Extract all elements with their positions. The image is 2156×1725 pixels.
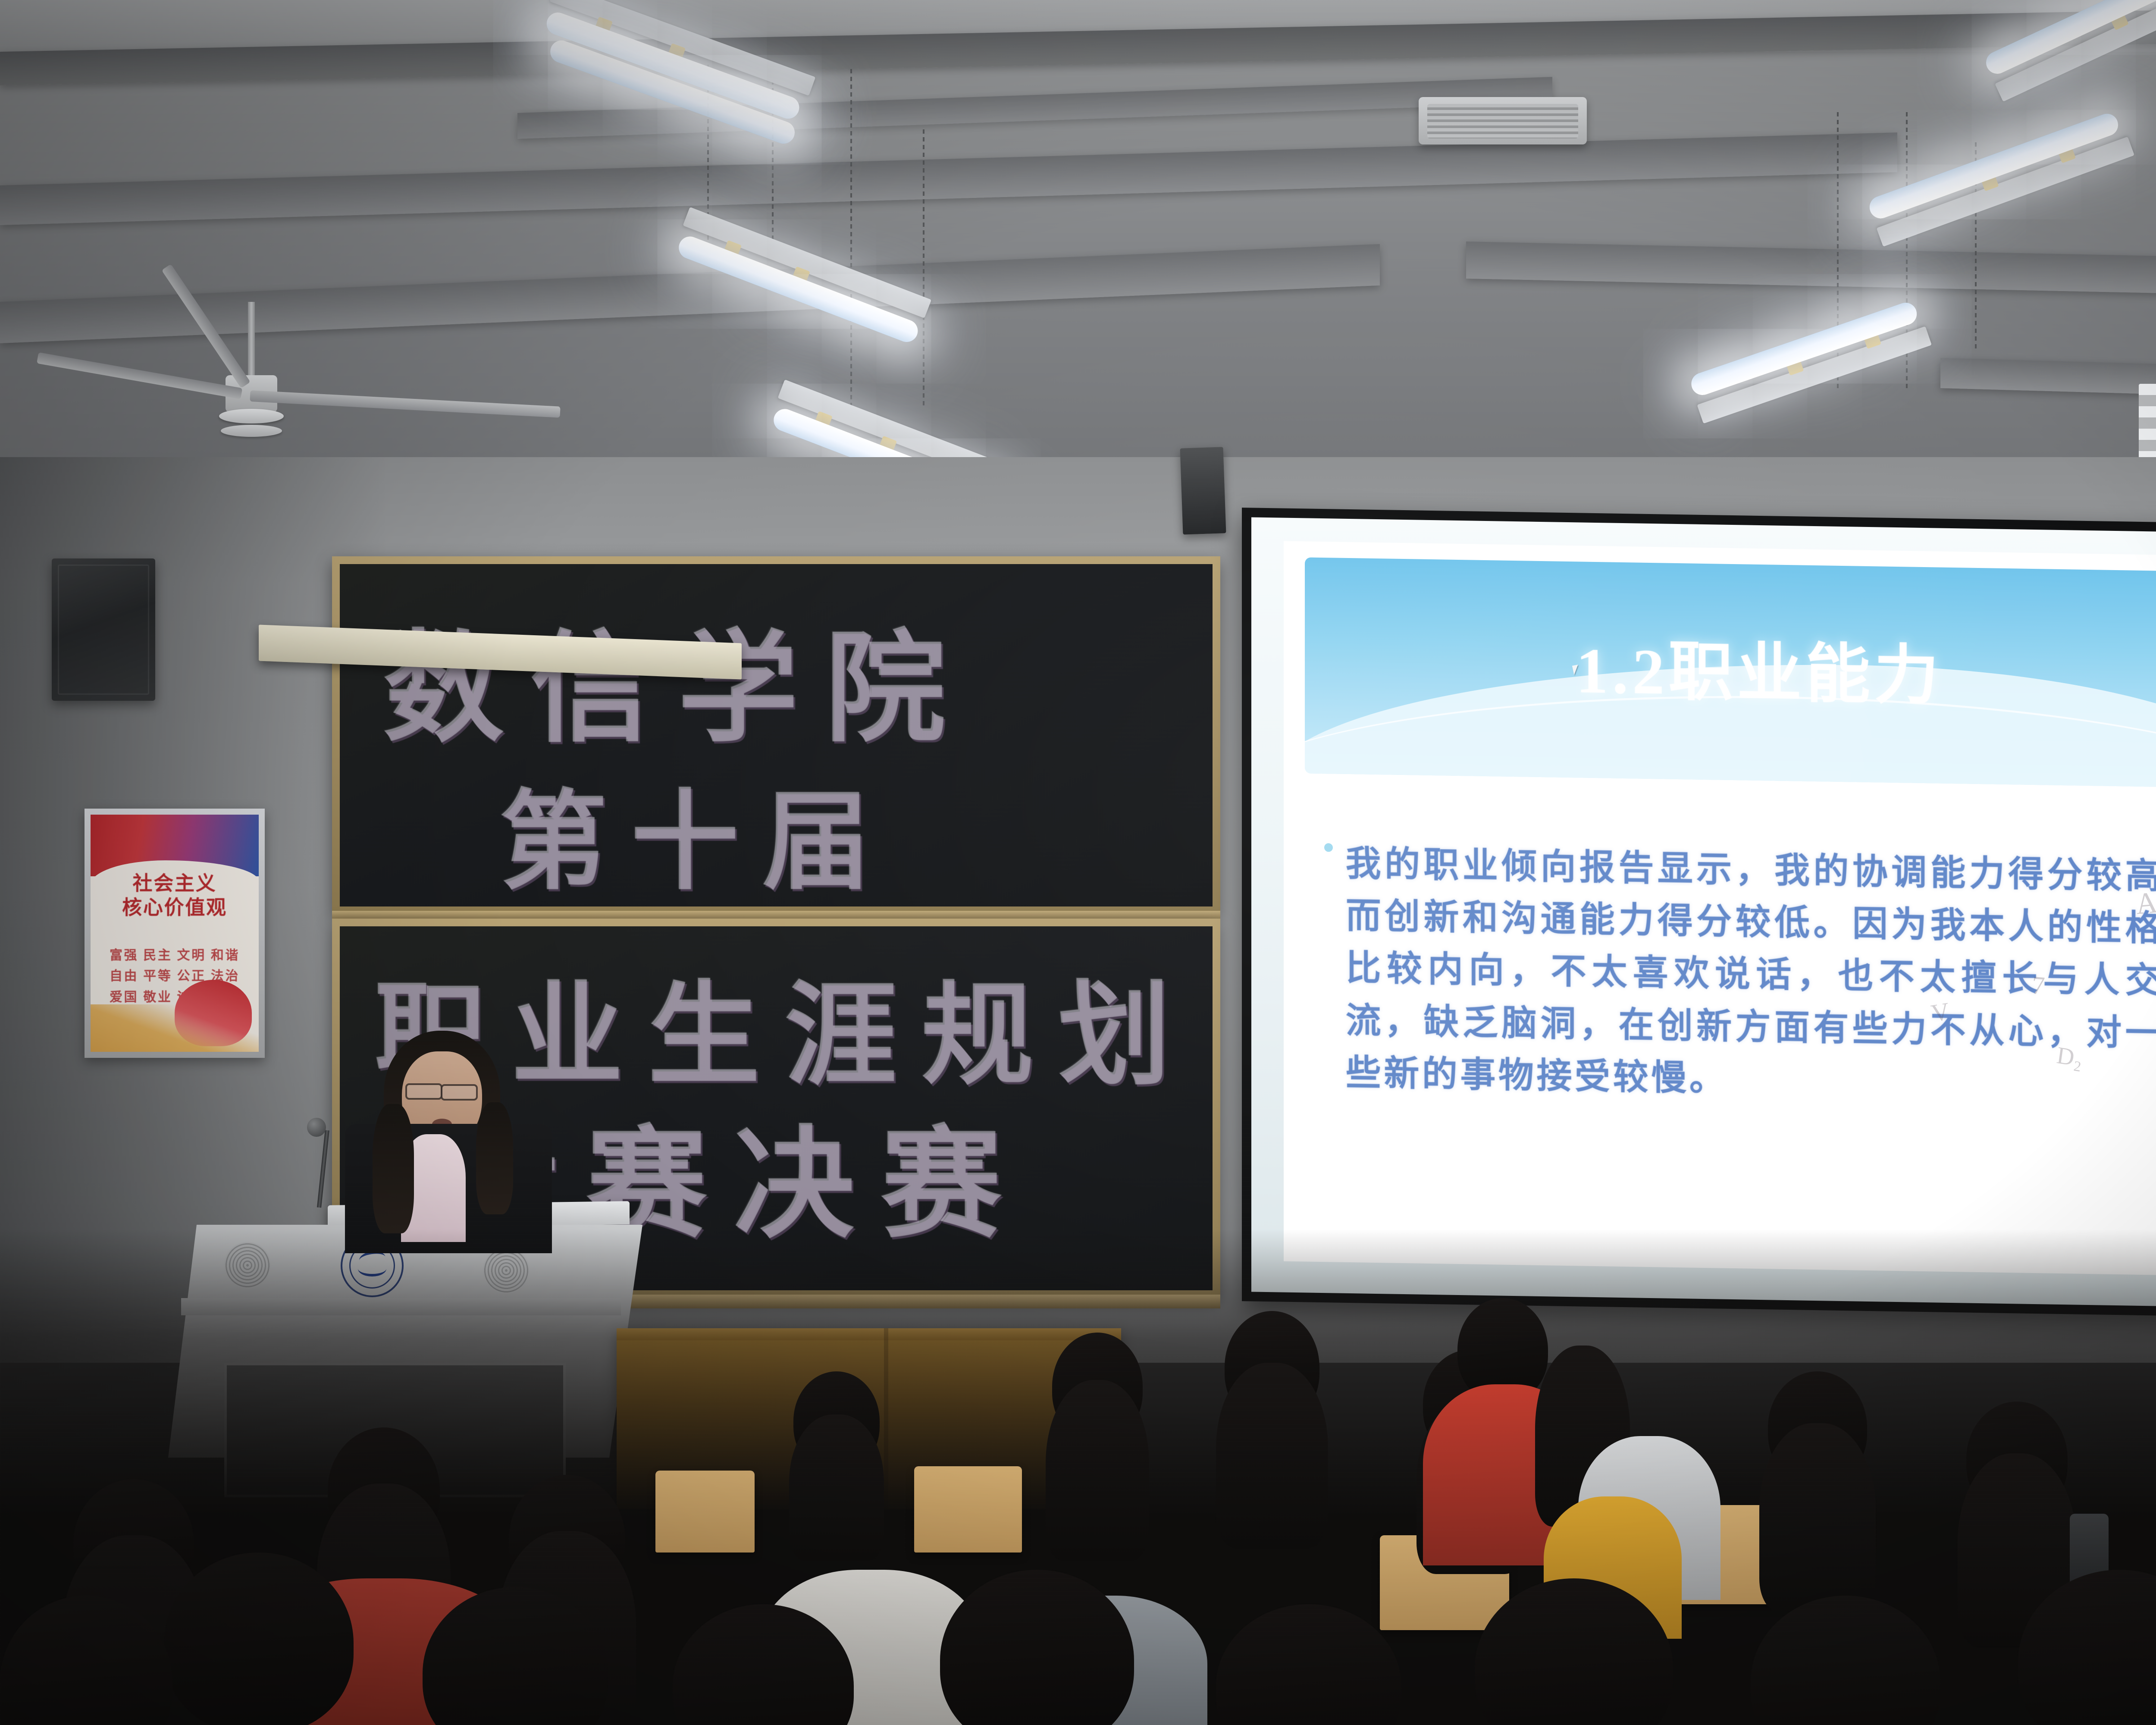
projection-screen[interactable]: 1.2职业能力 我的职业倾向报告显示，我的协调能力得分较高而创新和沟通能力得分较… xyxy=(1242,508,2156,1317)
presenter-glasses-right-lens xyxy=(441,1084,478,1101)
audience-hair xyxy=(1759,1423,1876,1613)
podium-microphone-head xyxy=(307,1118,326,1137)
lecture-hall-photo: 数信学院 第十届 职业生涯规划 大赛决赛 社会主义 核心价值观 富强 民主 文明… xyxy=(0,0,2156,1725)
slide-title: 1.2职业能力 xyxy=(1305,613,2156,721)
poster-ribbon-graphic xyxy=(91,1004,259,1052)
audience-hair xyxy=(789,1414,884,1561)
chalk-ghost: D₂ xyxy=(2055,1041,2084,1073)
audience-chair xyxy=(655,1471,755,1552)
chalk-ghost: 7 xyxy=(2031,970,2046,1001)
ceiling-fan-rod xyxy=(248,302,255,384)
audience-chair xyxy=(914,1466,1022,1552)
slide-header-band: 1.2职业能力 xyxy=(1305,557,2156,787)
air-vent xyxy=(1419,97,1587,144)
blackboard-upper-text2: 第十届 xyxy=(499,754,894,906)
ceiling-fan-ring xyxy=(221,425,282,437)
poster-core-values: 社会主义 核心价值观 富强 民主 文明 和谐 自由 平等 公正 法治 爱国 敬业… xyxy=(85,809,265,1058)
wall-speaker-left xyxy=(52,558,155,701)
audience-head-foreground xyxy=(164,1552,354,1725)
poster-values-row1: 富强 民主 文明 和谐 xyxy=(100,945,248,966)
ceiling-fan-ring xyxy=(219,409,284,423)
audience-hair xyxy=(1216,1363,1328,1548)
presenter-hair-strand xyxy=(373,1104,414,1233)
poster-title-line1: 社会主义 xyxy=(100,872,248,896)
light-chain xyxy=(923,129,924,405)
presenter-hair-strand xyxy=(476,1102,513,1214)
presenter-glasses-left-lens xyxy=(405,1083,442,1100)
presentation-slide: 1.2职业能力 我的职业倾向报告显示，我的协调能力得分较高而创新和沟通能力得分较… xyxy=(1284,541,2156,1276)
blackboard-upper: 数信学院 第十届 xyxy=(332,556,1220,914)
audience-hair xyxy=(1046,1380,1149,1561)
screen-roller-left[interactable] xyxy=(1180,447,1226,534)
light-chain xyxy=(850,69,852,405)
blackboard-upper-text: 数信学院 xyxy=(383,590,972,765)
bullet-icon xyxy=(1324,843,1333,852)
chalk-ghost: A₁ xyxy=(2134,884,2156,922)
poster-title-line2: 核心价值观 xyxy=(100,896,248,920)
poster-sky-graphic xyxy=(91,815,259,876)
